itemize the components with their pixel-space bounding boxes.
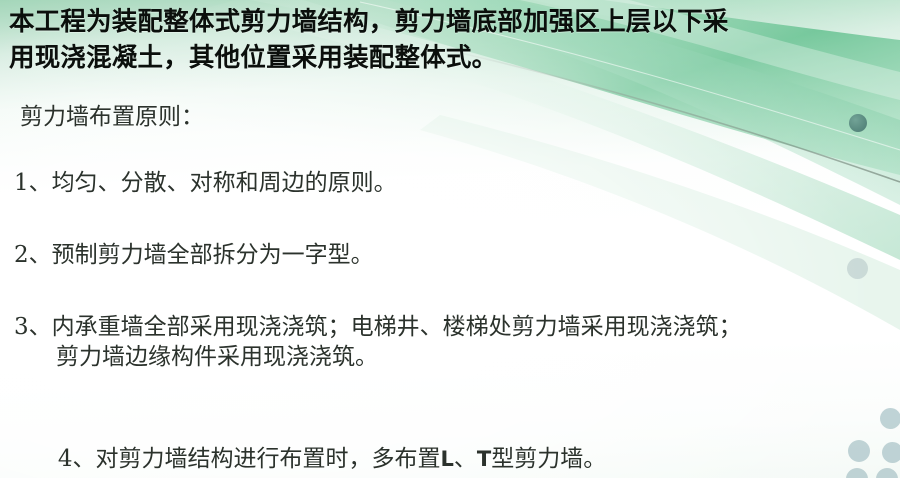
body-list-item-2: 2、预制剪力墙全部拆分为一字型。 [14,240,374,270]
slide-title-line-1: 本工程为装配整体式剪力墙结构，剪力墙底部加强区上层以下采 [9,4,893,40]
body-list-item-3-line-2: 剪力墙边缘构件采用现浇浇筑。 [14,342,894,372]
decor-dot-teal-top [849,114,867,132]
body-list-item-3-line-1: 3、内承重墙全部采用现浇浇筑；电梯井、楼梯处剪力墙采用现浇浇筑； [14,312,894,342]
decor-dot-blue-left [848,440,870,462]
presentation-slide: 本工程为装配整体式剪力墙结构，剪力墙底部加强区上层以下采 用现浇混凝土，其他位置… [0,0,900,478]
body-list-item-1: 1、均匀、分散、对称和周边的原则。 [14,168,397,198]
decor-dot-blue-right [882,442,900,463]
body-list-item-4-letter-l: L [441,447,454,471]
slide-title: 本工程为装配整体式剪力墙结构，剪力墙底部加强区上层以下采 用现浇混凝土，其他位置… [9,4,893,76]
body-list-item-4-separator: 、 [454,446,477,472]
slide-title-line-2: 用现浇混凝土，其他位置采用装配整体式。 [9,40,893,76]
decor-dot-blue-upper-right [880,408,900,429]
body-list-item-3: 3、内承重墙全部采用现浇浇筑；电梯井、楼梯处剪力墙采用现浇浇筑； 剪力墙边缘构件… [14,312,894,372]
body-list-item-4: 4、对剪力墙结构进行布置时，多布置L、T型剪力墙。 [14,414,606,478]
body-list-item-4-prefix: 4、对剪力墙结构进行布置时，多布置 [58,446,441,472]
decor-dot-gray-mid [847,258,868,279]
body-lead-text: 剪力墙布置原则： [20,102,204,132]
body-list-item-4-suffix: 型剪力墙。 [491,446,606,472]
body-list-item-4-letter-t: T [477,447,491,471]
